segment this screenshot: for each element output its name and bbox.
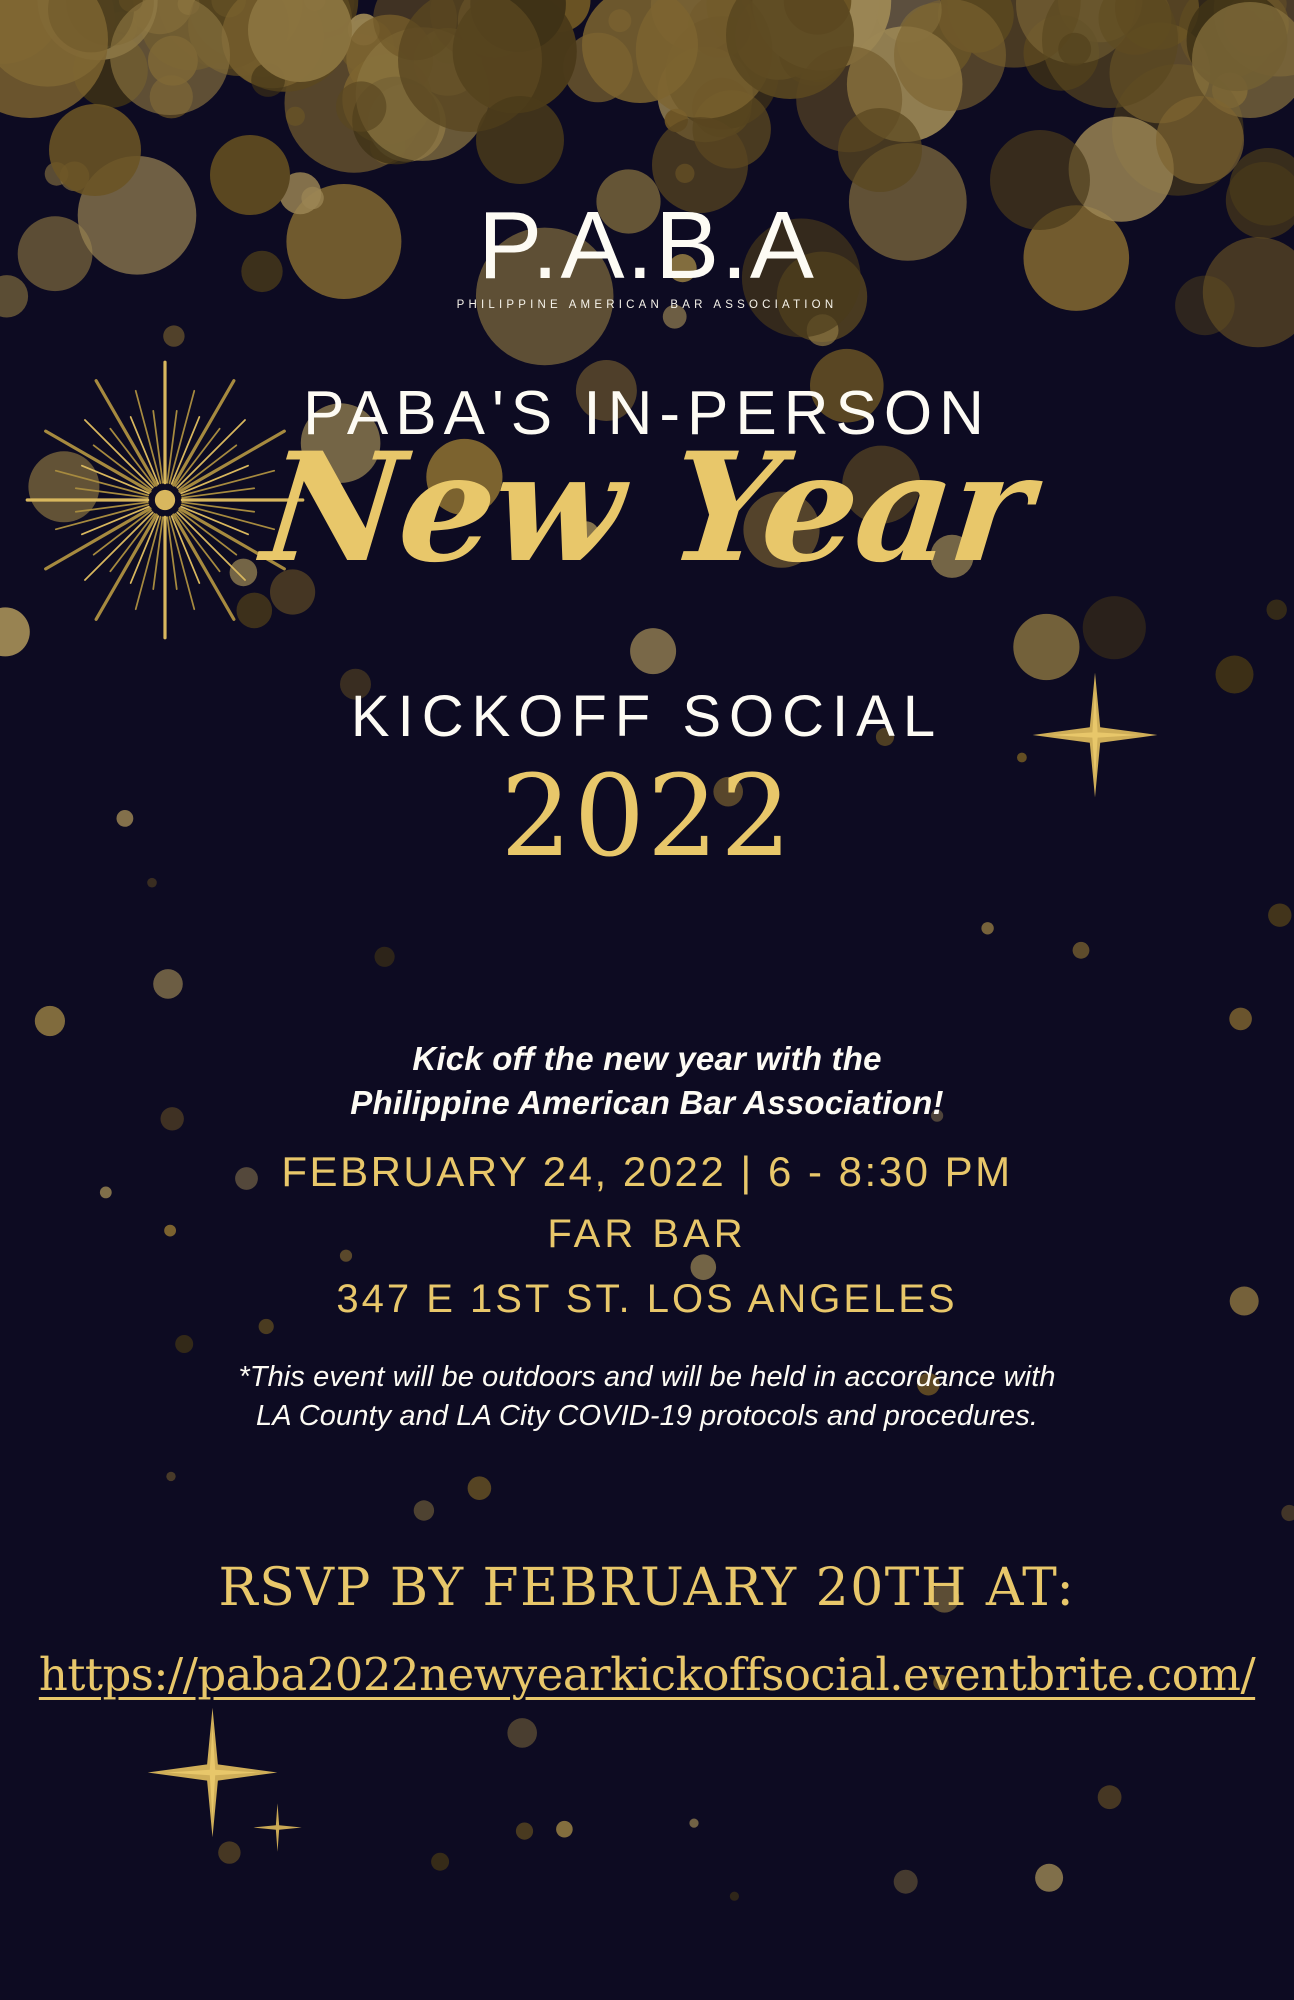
logo-wordmark: P.A.B.A [0,200,1294,291]
logo-tagline: PHILIPPINE AMERICAN BAR ASSOCIATION [0,299,1294,311]
event-address: 347 E 1ST ST. LOS ANGELES [0,1277,1294,1322]
headline-new-year-script: New Year [0,430,1294,588]
intro-line-1: Kick off the new year with the [207,1037,1087,1081]
covid-line-1: *This event will be outdoors and will be… [22,1358,1272,1397]
intro-text: Kick off the new year with the Philippin… [207,1037,1087,1124]
rsvp-url-link[interactable]: https://paba2022newyearkickoffsocial.eve… [0,1648,1294,1701]
covid-disclaimer: *This event will be outdoors and will be… [22,1358,1272,1435]
event-venue: FAR BAR [0,1212,1294,1257]
headline-year: 2022 [0,756,1294,879]
paba-logo: P.A.B.A PHILIPPINE AMERICAN BAR ASSOCIAT… [0,200,1294,311]
rsvp-heading: RSVP BY FEBRUARY 20TH AT: [0,1558,1294,1618]
headline-kickoff-social: KICKOFF SOCIAL [0,688,1294,746]
covid-line-2: LA County and LA City COVID-19 protocols… [22,1397,1272,1436]
event-poster: P.A.B.A PHILIPPINE AMERICAN BAR ASSOCIAT… [0,0,1294,2000]
event-date-time: FEBRUARY 24, 2022 | 6 - 8:30 PM [0,1148,1294,1196]
intro-line-2: Philippine American Bar Association! [207,1081,1087,1125]
